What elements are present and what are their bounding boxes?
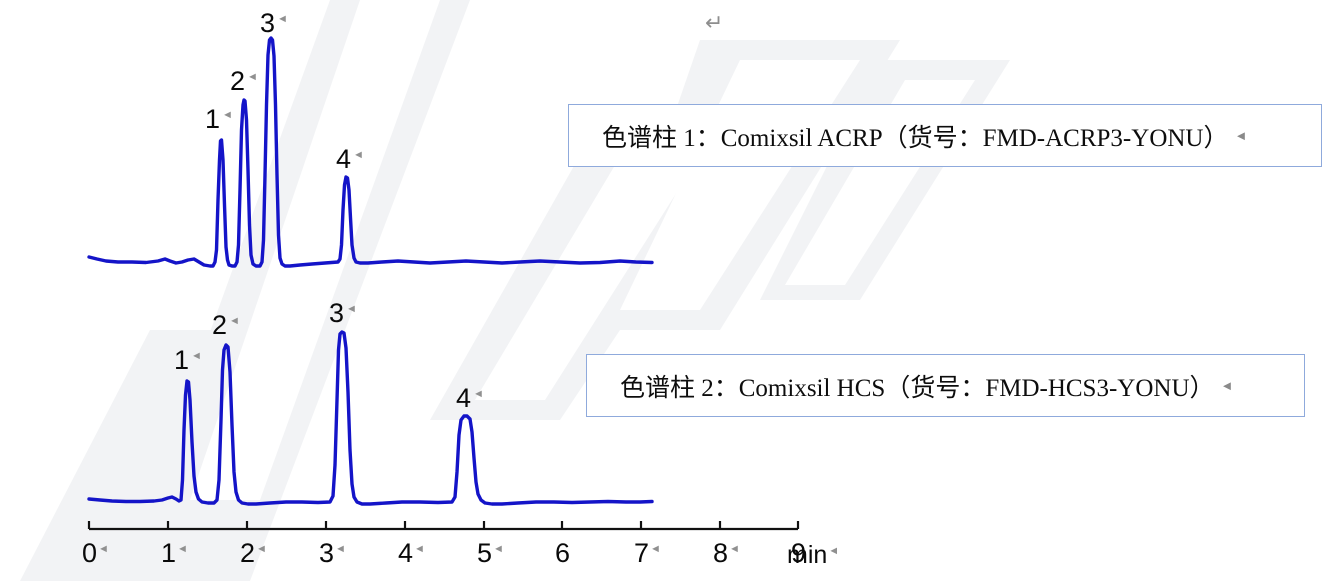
peak-label-top-4-text: 4 [336, 144, 351, 174]
axis-tick-0: 0◄ [82, 540, 109, 567]
peak-label-top-4-mark: ◄ [353, 149, 364, 161]
axis-tick-0-mark: ◄ [98, 543, 109, 555]
peak-label-top-1-mark: ◄ [222, 109, 233, 121]
peak-label-bottom-4: 4◄ [456, 385, 484, 412]
axis-tick-4-mark: ◄ [414, 543, 425, 555]
axis-tick-1-text: 1 [161, 538, 176, 568]
axis-unit-mark: ◄ [828, 545, 839, 557]
axis-tick-5: 5◄ [477, 540, 504, 567]
peak-label-top-2-mark: ◄ [247, 71, 258, 83]
axis-tick-2-text: 2 [240, 538, 255, 568]
peak-label-bottom-2-text: 2 [212, 310, 227, 340]
peak-label-top-4: 4◄ [336, 146, 364, 173]
axis-tick-1: 1◄ [161, 540, 188, 567]
axis-unit-label: min◄ [787, 541, 839, 570]
column-2-annotation-box[interactable]: 色谱柱 2：Comixsil HCS（货号：FMD-HCS3-YONU） ◄ [586, 354, 1305, 417]
peak-label-bottom-2-mark: ◄ [229, 315, 240, 327]
peak-label-bottom-1: 1◄ [174, 347, 202, 374]
axis-tick-3-text: 3 [319, 538, 334, 568]
column-2-annotation-text: 色谱柱 2：Comixsil HCS（货号：FMD-HCS3-YONU） [620, 368, 1215, 404]
column-2-annotation-mark: ◄ [1221, 378, 1234, 393]
peak-label-bottom-3-mark: ◄ [346, 303, 357, 315]
peak-label-bottom-1-text: 1 [174, 345, 189, 375]
column-1-annotation-box[interactable]: 色谱柱 1：Comixsil ACRP（货号：FMD-ACRP3-YONU） ◄ [568, 104, 1322, 167]
axis-tick-6-text: 6 [555, 538, 570, 568]
chromatogram-figure [0, 0, 1343, 581]
axis-tick-3-mark: ◄ [335, 543, 346, 555]
axis-tick-5-mark: ◄ [493, 543, 504, 555]
axis-tick-2: 2◄ [240, 540, 267, 567]
peak-label-bottom-2: 2◄ [212, 312, 240, 339]
peak-label-top-1: 1◄ [205, 106, 233, 133]
axis-tick-3: 3◄ [319, 540, 346, 567]
axis-tick-8: 8◄ [713, 540, 740, 567]
peak-label-top-3-mark: ◄ [277, 13, 288, 25]
peak-label-top-3: 3◄ [260, 10, 288, 37]
axis-tick-8-text: 8 [713, 538, 728, 568]
axis-tick-1-mark: ◄ [177, 543, 188, 555]
x-axis [89, 521, 798, 529]
axis-unit-text: min [787, 541, 827, 569]
figure-page: ↵ 1◄ 2◄ 3◄ 4◄ 1◄ 2◄ 3◄ 4◄ 0◄ 1◄ 2◄ 3◄ 4◄… [0, 0, 1343, 581]
axis-tick-7-mark: ◄ [650, 543, 661, 555]
axis-tick-4-text: 4 [398, 538, 413, 568]
axis-tick-6: 6 [555, 540, 570, 567]
axis-tick-7: 7◄ [634, 540, 661, 567]
peak-label-top-1-text: 1 [205, 104, 220, 134]
paragraph-mark-icon: ↵ [705, 10, 723, 36]
peak-label-bottom-3: 3◄ [329, 300, 357, 327]
column-1-annotation-text: 色谱柱 1：Comixsil ACRP（货号：FMD-ACRP3-YONU） [602, 118, 1228, 154]
peak-label-top-2-text: 2 [230, 66, 245, 96]
peak-label-bottom-1-mark: ◄ [191, 350, 202, 362]
axis-tick-7-text: 7 [634, 538, 649, 568]
axis-tick-0-text: 0 [82, 538, 97, 568]
axis-tick-2-mark: ◄ [256, 543, 267, 555]
axis-tick-4: 4◄ [398, 540, 425, 567]
peak-label-bottom-4-text: 4 [456, 383, 471, 413]
axis-tick-8-mark: ◄ [729, 543, 740, 555]
column-1-annotation-mark: ◄ [1234, 128, 1247, 143]
peak-label-top-2: 2◄ [230, 68, 258, 95]
axis-tick-5-text: 5 [477, 538, 492, 568]
peak-label-bottom-3-text: 3 [329, 298, 344, 328]
peak-label-top-3-text: 3 [260, 8, 275, 38]
peak-label-bottom-4-mark: ◄ [473, 388, 484, 400]
